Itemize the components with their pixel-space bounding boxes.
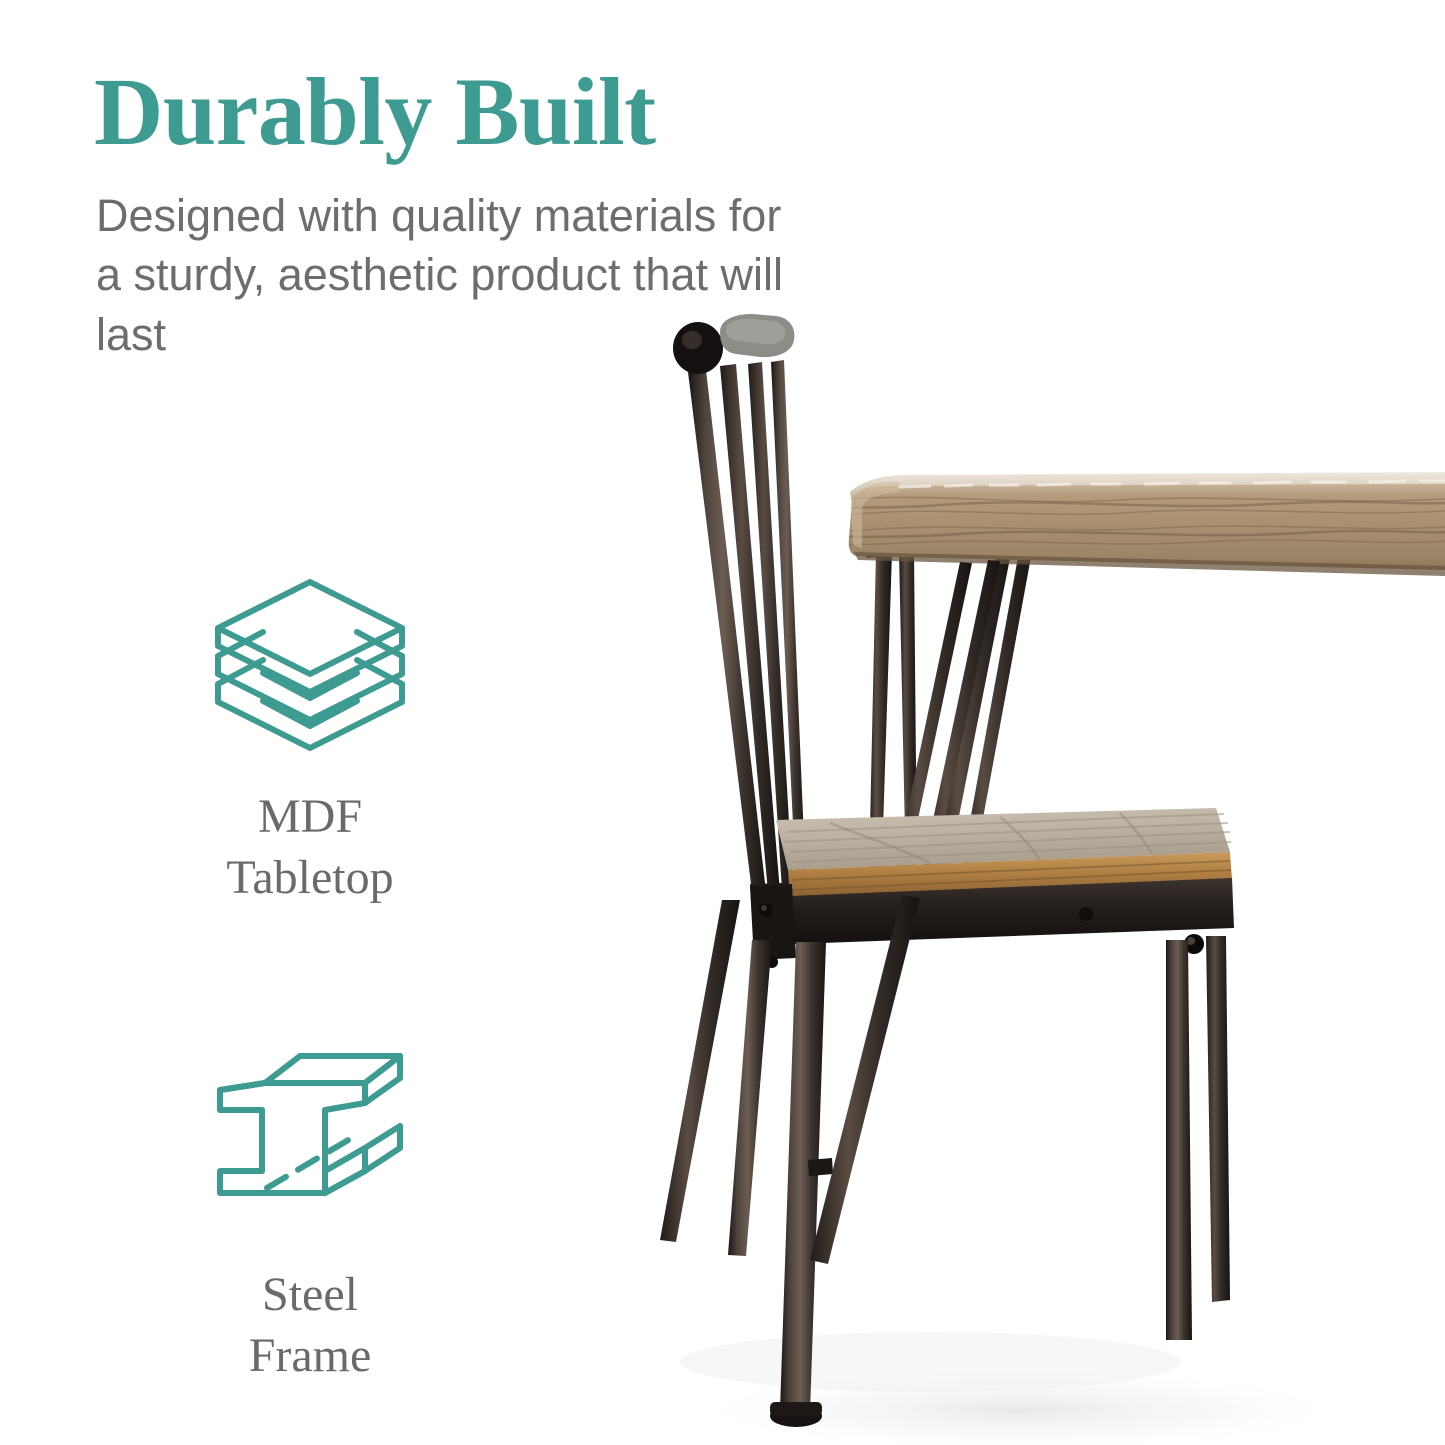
chair-back-spindles bbox=[688, 360, 806, 892]
i-beam-icon-wrap bbox=[110, 1040, 510, 1240]
feature-mdf-tabletop: MDF Tabletop bbox=[110, 562, 510, 909]
feature-steel-frame: Steel Frame bbox=[110, 1040, 510, 1387]
product-infographic: Durably Built Designed with quality mate… bbox=[0, 0, 1445, 1445]
feature-label-steel-frame: Steel Frame bbox=[110, 1264, 510, 1387]
layers-stack-icon bbox=[205, 572, 415, 752]
chair-diagonal-brace bbox=[810, 895, 920, 1264]
table-top bbox=[849, 472, 1445, 576]
feature-label-line-2: Frame bbox=[110, 1325, 510, 1386]
dining-set-illustration bbox=[600, 280, 1445, 1445]
feature-label-line-2: Tabletop bbox=[110, 847, 510, 908]
i-beam-icon bbox=[215, 1048, 405, 1233]
layers-stack-icon-wrap bbox=[110, 562, 510, 762]
feature-label-line-1: Steel bbox=[110, 1264, 510, 1325]
floor-shadow-secondary bbox=[680, 1332, 1180, 1392]
product-photo bbox=[600, 280, 1445, 1445]
feature-label-line-1: MDF bbox=[110, 786, 510, 847]
page-title: Durably Built bbox=[94, 62, 656, 163]
feature-label-mdf-tabletop: MDF Tabletop bbox=[110, 786, 510, 909]
